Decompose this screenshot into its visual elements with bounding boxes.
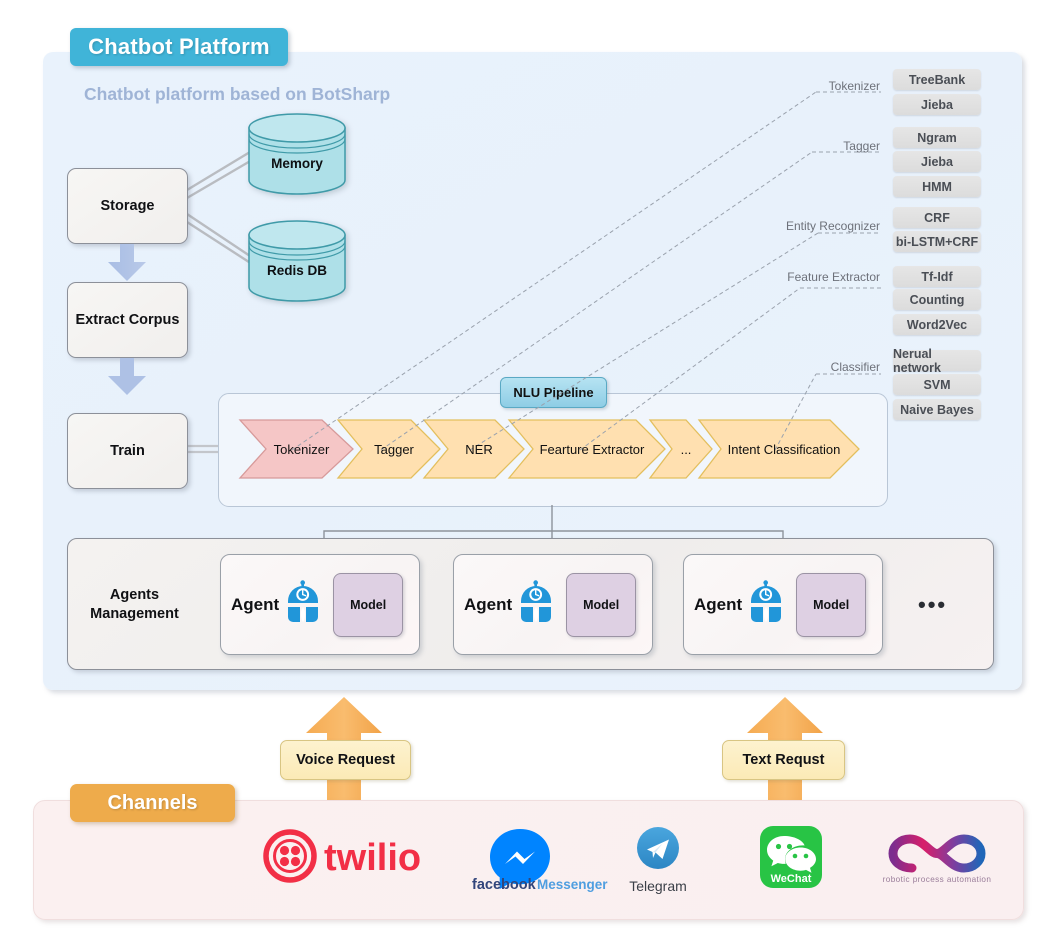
component-label-entity-recognizer: Entity Recognizer	[700, 219, 880, 233]
agents-management-title: Agents Management	[82, 586, 187, 624]
tag-nerual-network[interactable]: Nerual network	[893, 350, 981, 371]
rpa-caption: robotic process automation	[883, 875, 992, 884]
agent-card-1[interactable]: Agent Model	[220, 554, 420, 655]
agents-management-title-line2: Management	[82, 605, 187, 624]
tag-word2vec[interactable]: Word2Vec	[893, 314, 981, 335]
channel-telegram[interactable]: Telegram	[626, 826, 690, 888]
agent-card-2[interactable]: Agent Model	[453, 554, 653, 655]
nlu-stage-tokenizer[interactable]: Tokenizer	[240, 420, 353, 478]
nlu-stage-intent-classification-label: Intent Classification	[718, 442, 841, 457]
agent-card-2-model-label: Model	[583, 598, 619, 612]
text-request-label-text: Text Requst	[743, 752, 825, 768]
agent-card-1-model-label: Model	[350, 598, 386, 612]
nlu-stage-feature-extractor[interactable]: Fearture Extractor	[509, 420, 665, 478]
agent-card-1-label: Agent	[231, 595, 279, 615]
datastore-redis-db[interactable]: Redis DB	[247, 219, 347, 303]
channels-title-text: Channels	[107, 792, 197, 815]
component-label-tagger: Tagger	[700, 139, 880, 153]
rpa-infinity-logo-icon: robotic process automation	[880, 828, 994, 890]
flow-box-train-label: Train	[110, 443, 145, 459]
svg-text:twilio: twilio	[324, 837, 421, 879]
robot-icon	[285, 581, 321, 628]
agent-card-3-model[interactable]: Model	[796, 573, 866, 637]
telegram-caption: Telegram	[626, 878, 690, 894]
tag-bi-lstm-crf[interactable]: bi-LSTM+CRF	[893, 231, 981, 252]
arrow-extract-to-train-icon	[106, 358, 148, 396]
telegram-logo-icon	[626, 826, 690, 870]
nlu-stage-tagger-label: Tagger	[364, 442, 414, 457]
arrow-storage-to-extract-icon	[106, 244, 148, 282]
tag-ngram[interactable]: Ngram	[893, 127, 981, 148]
twilio-logo-icon: twilio	[264, 830, 424, 882]
channel-messenger[interactable]: facebook Messenger	[455, 827, 585, 891]
nlu-stage-feature-extractor-label: Fearture Extractor	[530, 442, 645, 457]
agents-more-indicator: •••	[918, 592, 947, 618]
platform-subtitle: Chatbot platform based on BotSharp	[84, 84, 390, 105]
voice-request-label-text: Voice Request	[296, 752, 395, 768]
tag-naive-bayes[interactable]: Naive Bayes	[893, 399, 981, 420]
text-request-label: Text Requst	[722, 740, 845, 780]
agent-card-3-model-label: Model	[813, 598, 849, 612]
nlu-stage-ellipsis-label: ...	[671, 442, 692, 457]
nlu-stage-ner-label: NER	[455, 442, 492, 457]
tag-svm[interactable]: SVM	[893, 374, 981, 395]
nlu-stage-tokenizer-label: Tokenizer	[264, 442, 330, 457]
channel-twilio[interactable]: twilio	[264, 830, 424, 882]
agents-management-title-line1: Agents	[82, 586, 187, 605]
agent-card-3-label: Agent	[694, 595, 742, 615]
tag-treebank[interactable]: TreeBank	[893, 69, 981, 90]
agent-card-3[interactable]: Agent Model	[683, 554, 883, 655]
nlu-pipeline-badge-label: NLU Pipeline	[513, 385, 593, 400]
datastore-memory-label: Memory	[247, 156, 347, 171]
tag-jieba-tokenizer[interactable]: Jieba	[893, 94, 981, 115]
wechat-logo-icon: WeChat	[760, 826, 822, 888]
channels-title-badge: Channels	[70, 784, 235, 822]
datastore-memory[interactable]: Memory	[247, 112, 347, 196]
flow-box-extract-corpus-label: Extract Corpus	[76, 312, 180, 328]
messenger-caption-messenger: Messenger	[537, 877, 608, 892]
datastore-redis-db-label: Redis DB	[247, 263, 347, 278]
channel-wechat[interactable]: WeChat	[760, 826, 822, 888]
tag-tf-idf[interactable]: Tf-Idf	[893, 266, 981, 287]
component-label-feature-extractor: Feature Extractor	[700, 270, 880, 284]
flow-box-storage[interactable]: Storage	[67, 168, 188, 244]
platform-title-text: Chatbot Platform	[88, 34, 270, 60]
robot-icon	[748, 581, 784, 628]
platform-title-badge: Chatbot Platform	[70, 28, 288, 66]
agent-card-2-label: Agent	[464, 595, 512, 615]
tag-counting[interactable]: Counting	[893, 289, 981, 310]
flow-box-extract-corpus[interactable]: Extract Corpus	[67, 282, 188, 358]
component-label-tokenizer: Tokenizer	[700, 79, 880, 93]
tag-jieba-tagger[interactable]: Jieba	[893, 151, 981, 172]
agent-card-1-model[interactable]: Model	[333, 573, 403, 637]
channel-rpa[interactable]: robotic process automation	[880, 828, 994, 890]
messenger-caption-facebook: facebook	[472, 877, 537, 893]
facebook-messenger-logo-icon: facebook Messenger	[455, 827, 585, 891]
flow-box-storage-label: Storage	[101, 198, 155, 214]
tag-crf[interactable]: CRF	[893, 207, 981, 228]
tag-hmm[interactable]: HMM	[893, 176, 981, 197]
flow-box-train[interactable]: Train	[67, 413, 188, 489]
agent-card-2-model[interactable]: Model	[566, 573, 636, 637]
nlu-pipeline-badge: NLU Pipeline	[500, 377, 607, 408]
component-label-classifier: Classifier	[700, 360, 880, 374]
voice-request-label: Voice Request	[280, 740, 411, 780]
wechat-caption: WeChat	[771, 873, 812, 885]
robot-icon	[518, 581, 554, 628]
nlu-stage-intent-classification[interactable]: Intent Classification	[699, 420, 859, 478]
